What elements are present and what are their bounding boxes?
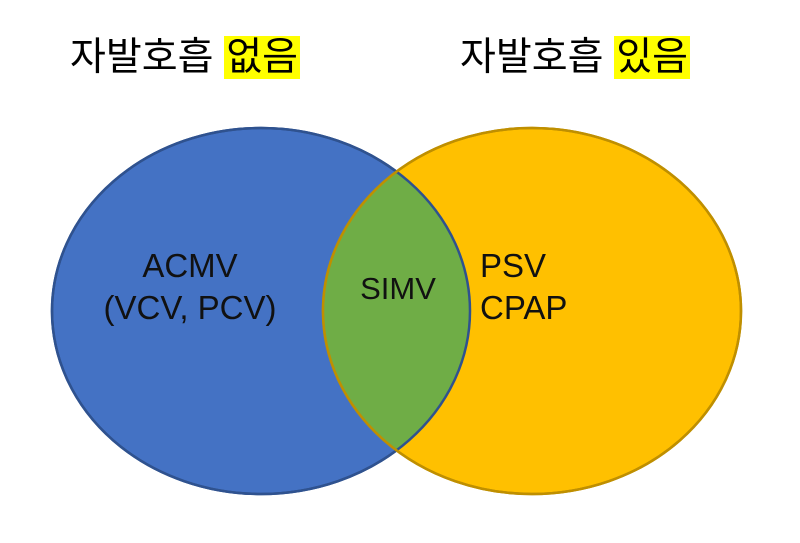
venn-diagram [0, 0, 800, 543]
slide-canvas: 자발호흡 없음 자발호흡 있음 ACMV (VCV, PCV) SIMV PSV… [0, 0, 800, 543]
